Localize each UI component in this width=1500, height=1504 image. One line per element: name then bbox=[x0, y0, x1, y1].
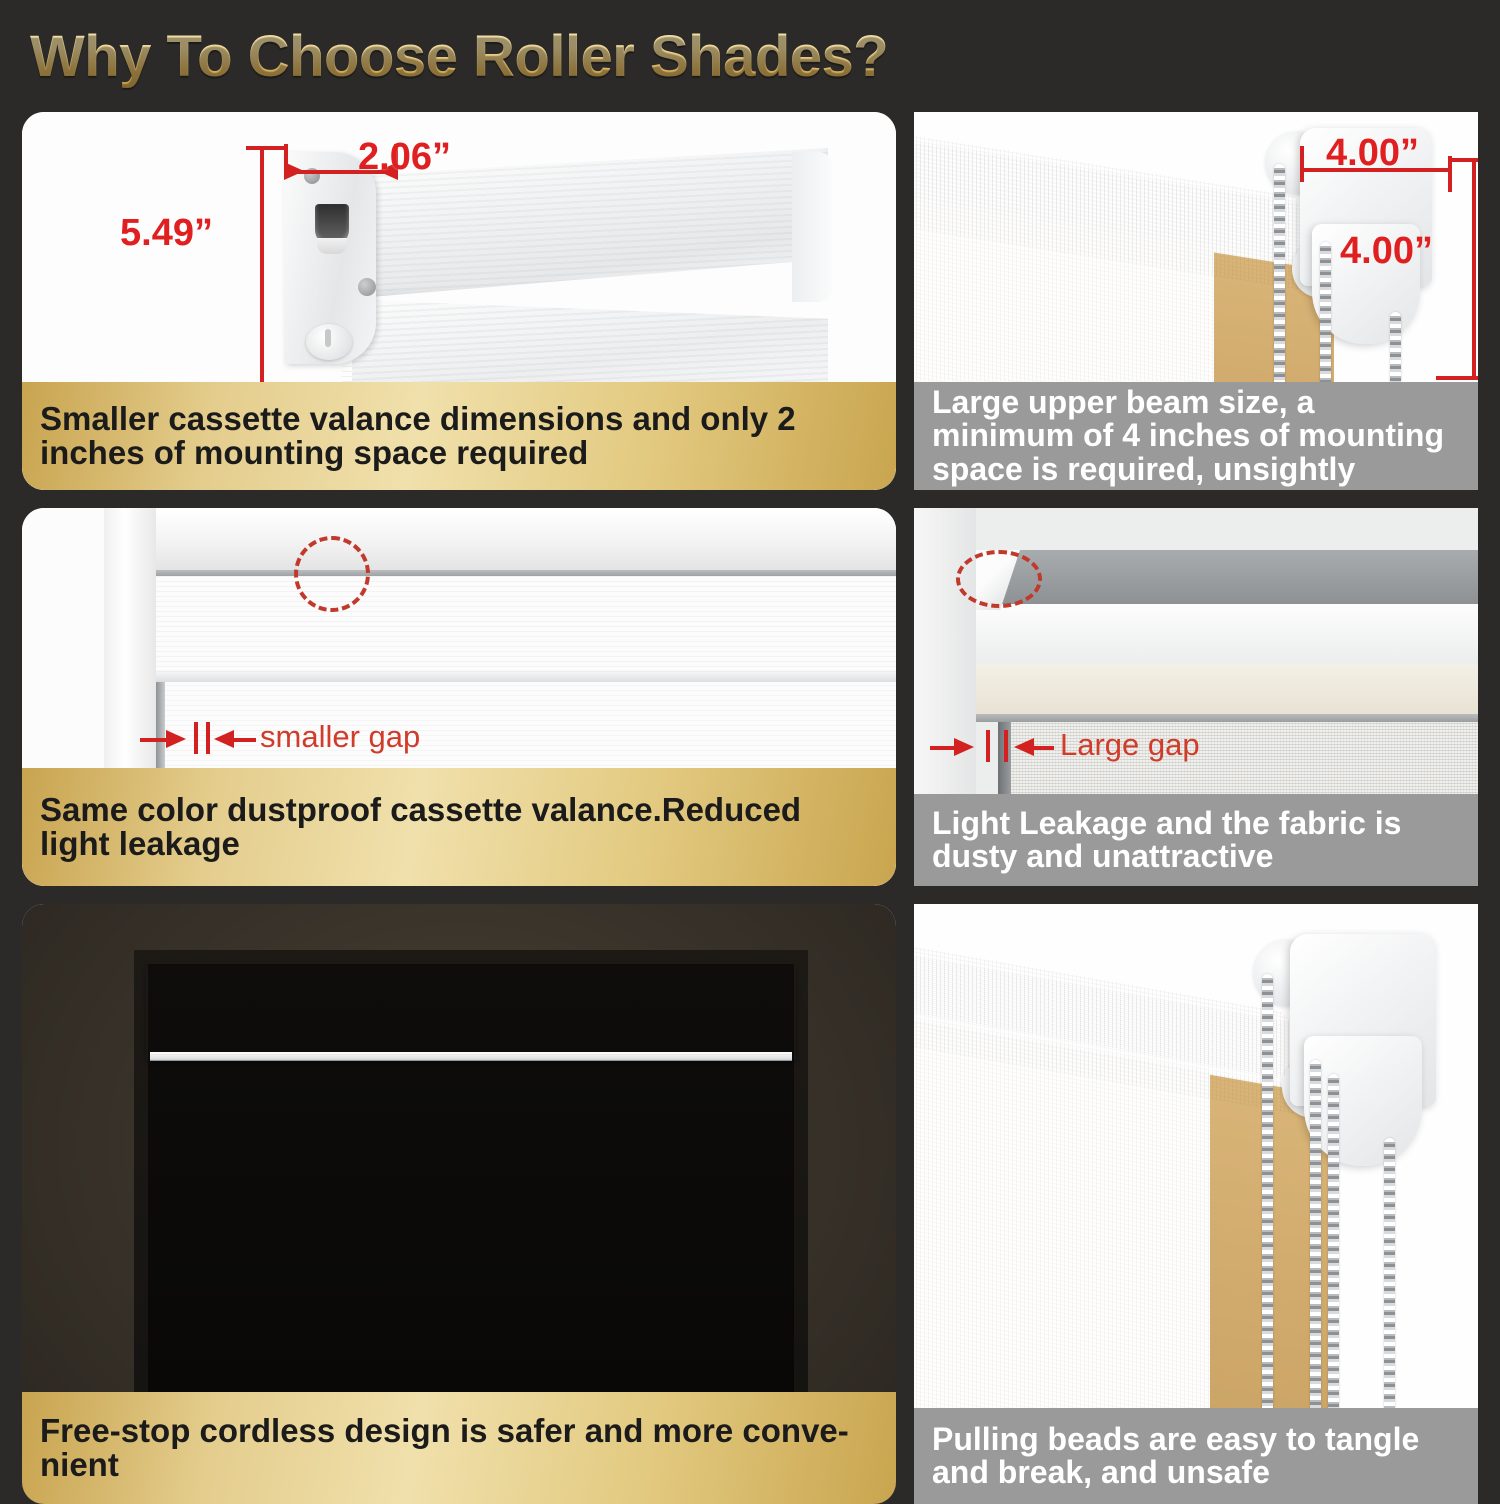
height-tick-top bbox=[246, 146, 288, 150]
gap-arrow-stem-left bbox=[930, 746, 956, 750]
pro-panel: 2.06” 5.49” Smaller cassette valance dim… bbox=[22, 112, 896, 490]
gap-marker-b bbox=[206, 722, 210, 754]
con-height-dimension-label: 4.00” bbox=[1340, 230, 1433, 273]
pro-caption-banner: Same color dustproof cassette valance.Re… bbox=[22, 768, 896, 886]
pro-cell-operation: Free-stop cordless design is safer and m… bbox=[22, 904, 896, 1504]
con-panel: Large gap Light Leakage and the fabric i… bbox=[914, 508, 1478, 886]
gap-callout-label: Large gap bbox=[1060, 727, 1200, 763]
con-caption-text: Light Leakage and the fabric is dusty an… bbox=[932, 807, 1460, 874]
pro-panel: smaller gap Same color dustproof cassett… bbox=[22, 508, 896, 886]
con-height-tick-top bbox=[1450, 158, 1478, 162]
pro-caption-text: Free-stop cordless design is safer and m… bbox=[40, 1414, 878, 1483]
comparison-grid: 2.06” 5.49” Smaller cassette valance dim… bbox=[0, 112, 1500, 1500]
gap-callout-label: smaller gap bbox=[260, 719, 420, 755]
pro-cell-light-leakage: smaller gap Same color dustproof cassett… bbox=[22, 508, 896, 886]
gap-arrow-stem-right bbox=[234, 738, 256, 742]
gap-arrow-right bbox=[1014, 738, 1034, 756]
con-width-dimension-label: 4.00” bbox=[1326, 132, 1419, 175]
con-height-tick-bottom bbox=[1436, 376, 1478, 380]
con-panel: 4.00” 4.00” Large upper beam size, a min… bbox=[914, 112, 1478, 490]
highlight-circle-icon bbox=[956, 550, 1042, 608]
con-caption-text: Large upper beam size, a minimum of 4 in… bbox=[932, 386, 1460, 486]
width-dimension-label: 2.06” bbox=[358, 136, 451, 179]
page-title: Why To Choose Roller Shades? bbox=[30, 23, 888, 90]
gap-arrow-left bbox=[166, 730, 186, 748]
header: Why To Choose Roller Shades? bbox=[0, 0, 1500, 112]
highlight-circle-icon bbox=[294, 536, 370, 612]
comparison-row-operation: Free-stop cordless design is safer and m… bbox=[22, 904, 1478, 1504]
con-cell-operation: Pulling beads are easy to tangle and bre… bbox=[914, 904, 1478, 1504]
con-caption-banner: Large upper beam size, a minimum of 4 in… bbox=[914, 382, 1478, 490]
gap-arrow-right bbox=[214, 730, 234, 748]
height-dimension-label: 5.49” bbox=[120, 212, 213, 255]
pro-panel: Free-stop cordless design is safer and m… bbox=[22, 904, 896, 1504]
con-panel: Pulling beads are easy to tangle and bre… bbox=[914, 904, 1478, 1504]
con-caption-banner: Pulling beads are easy to tangle and bre… bbox=[914, 1408, 1478, 1504]
con-width-tick-left bbox=[1300, 146, 1304, 182]
con-caption-text: Pulling beads are easy to tangle and bre… bbox=[932, 1423, 1460, 1490]
gap-arrow-stem-left bbox=[140, 738, 168, 742]
pro-caption-text: Same color dustproof cassette valance.Re… bbox=[40, 793, 878, 862]
pro-cell-mounting-space: 2.06” 5.49” Smaller cassette valance dim… bbox=[22, 112, 896, 490]
con-caption-banner: Light Leakage and the fabric is dusty an… bbox=[914, 794, 1478, 886]
con-cell-light-leakage: Large gap Light Leakage and the fabric i… bbox=[914, 508, 1478, 886]
pro-caption-banner: Free-stop cordless design is safer and m… bbox=[22, 1392, 896, 1504]
gap-arrow-left bbox=[954, 738, 974, 756]
comparison-row-light-leakage: smaller gap Same color dustproof cassett… bbox=[22, 508, 1478, 886]
con-cell-mounting-space: 4.00” 4.00” Large upper beam size, a min… bbox=[914, 112, 1478, 490]
con-height-dimension-line bbox=[1472, 158, 1476, 380]
gap-marker-b bbox=[1004, 730, 1008, 762]
gap-arrow-stem-right bbox=[1034, 746, 1054, 750]
pro-caption-text: Smaller cassette valance dimensions and … bbox=[40, 402, 878, 471]
comparison-row-mounting-space: 2.06” 5.49” Smaller cassette valance dim… bbox=[22, 112, 1478, 490]
gap-marker-a bbox=[194, 722, 198, 754]
pro-caption-banner: Smaller cassette valance dimensions and … bbox=[22, 382, 896, 490]
gap-marker-a bbox=[986, 730, 990, 762]
